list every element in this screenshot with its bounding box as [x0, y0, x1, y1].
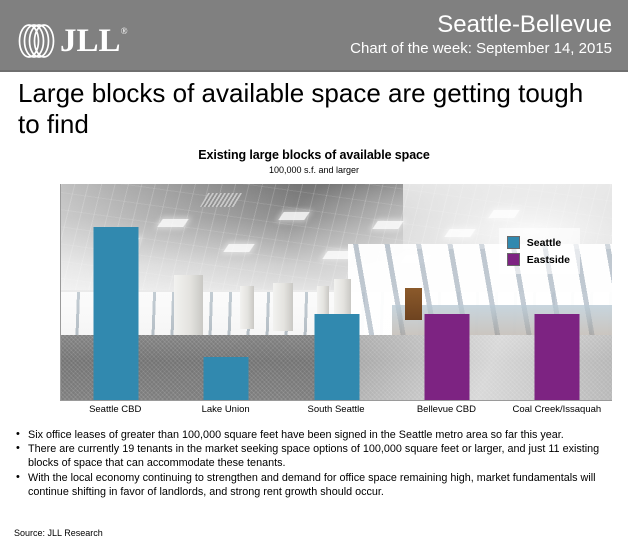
- x-label-coal-creek-issaquah: Coal Creek/Issaquah: [502, 404, 612, 415]
- bar-south-seattle[interactable]: [314, 314, 359, 400]
- legend-label-seattle: Seattle: [527, 237, 561, 249]
- bar-coal-creek-issaquah[interactable]: [534, 314, 579, 400]
- header-subtitle: Chart of the week: September 14, 2015: [350, 38, 612, 60]
- legend-item-eastside[interactable]: Eastside: [507, 251, 570, 268]
- x-label-lake-union: Lake Union: [170, 404, 280, 415]
- bullet-item: With the local economy continuing to str…: [14, 471, 618, 499]
- x-axis-line: [60, 400, 612, 401]
- bar-cell: [281, 184, 391, 400]
- chart-subtitle: 100,000 s.f. and larger: [14, 165, 614, 175]
- legend-swatch-eastside: [507, 253, 520, 266]
- legend-item-seattle[interactable]: Seattle: [507, 234, 570, 251]
- slide-page: JLL® Seattle-Bellevue Chart of the week:…: [0, 0, 628, 549]
- registered-mark: ®: [121, 27, 128, 36]
- bar-group: [61, 184, 612, 400]
- x-label-south-seattle: South Seattle: [281, 404, 391, 415]
- bar-lake-union[interactable]: [204, 357, 249, 400]
- legend-swatch-seattle: [507, 236, 520, 249]
- chart-container: Existing large blocks of available space…: [14, 148, 614, 418]
- bar-cell: [392, 184, 502, 400]
- x-label-bellevue-cbd: Bellevue CBD: [391, 404, 501, 415]
- bar-bellevue-cbd[interactable]: [424, 314, 469, 400]
- plot-area: 5 4 3 2 1 0 Seattle: [60, 184, 612, 400]
- legend-label-eastside: Eastside: [527, 254, 570, 266]
- jll-wordmark: JLL®: [60, 25, 121, 58]
- bar-seattle-cbd[interactable]: [94, 227, 139, 400]
- header-title: Seattle-Bellevue: [350, 12, 612, 38]
- bullet-list: Six office leases of greater than 100,00…: [14, 428, 618, 499]
- x-axis-labels: Seattle CBD Lake Union South Seattle Bel…: [60, 404, 612, 415]
- bullet-item: There are currently 19 tenants in the ma…: [14, 442, 618, 470]
- chart-legend: Seattle Eastside: [499, 228, 580, 274]
- source-note: Source: JLL Research: [14, 528, 103, 538]
- chart-title: Existing large blocks of available space: [14, 148, 614, 162]
- x-label-seattle-cbd: Seattle CBD: [60, 404, 170, 415]
- bar-cell: [502, 184, 612, 400]
- bar-cell: [61, 184, 171, 400]
- jll-logo: JLL®: [17, 20, 121, 62]
- header-divider: [0, 70, 628, 72]
- page-title: Large blocks of available space are gett…: [18, 78, 588, 140]
- bullet-item: Six office leases of greater than 100,00…: [14, 428, 618, 442]
- bar-cell: [171, 184, 281, 400]
- jll-rings-icon: [17, 21, 59, 61]
- header-text-block: Seattle-Bellevue Chart of the week: Sept…: [350, 12, 612, 60]
- slide-header: JLL® Seattle-Bellevue Chart of the week:…: [0, 0, 628, 70]
